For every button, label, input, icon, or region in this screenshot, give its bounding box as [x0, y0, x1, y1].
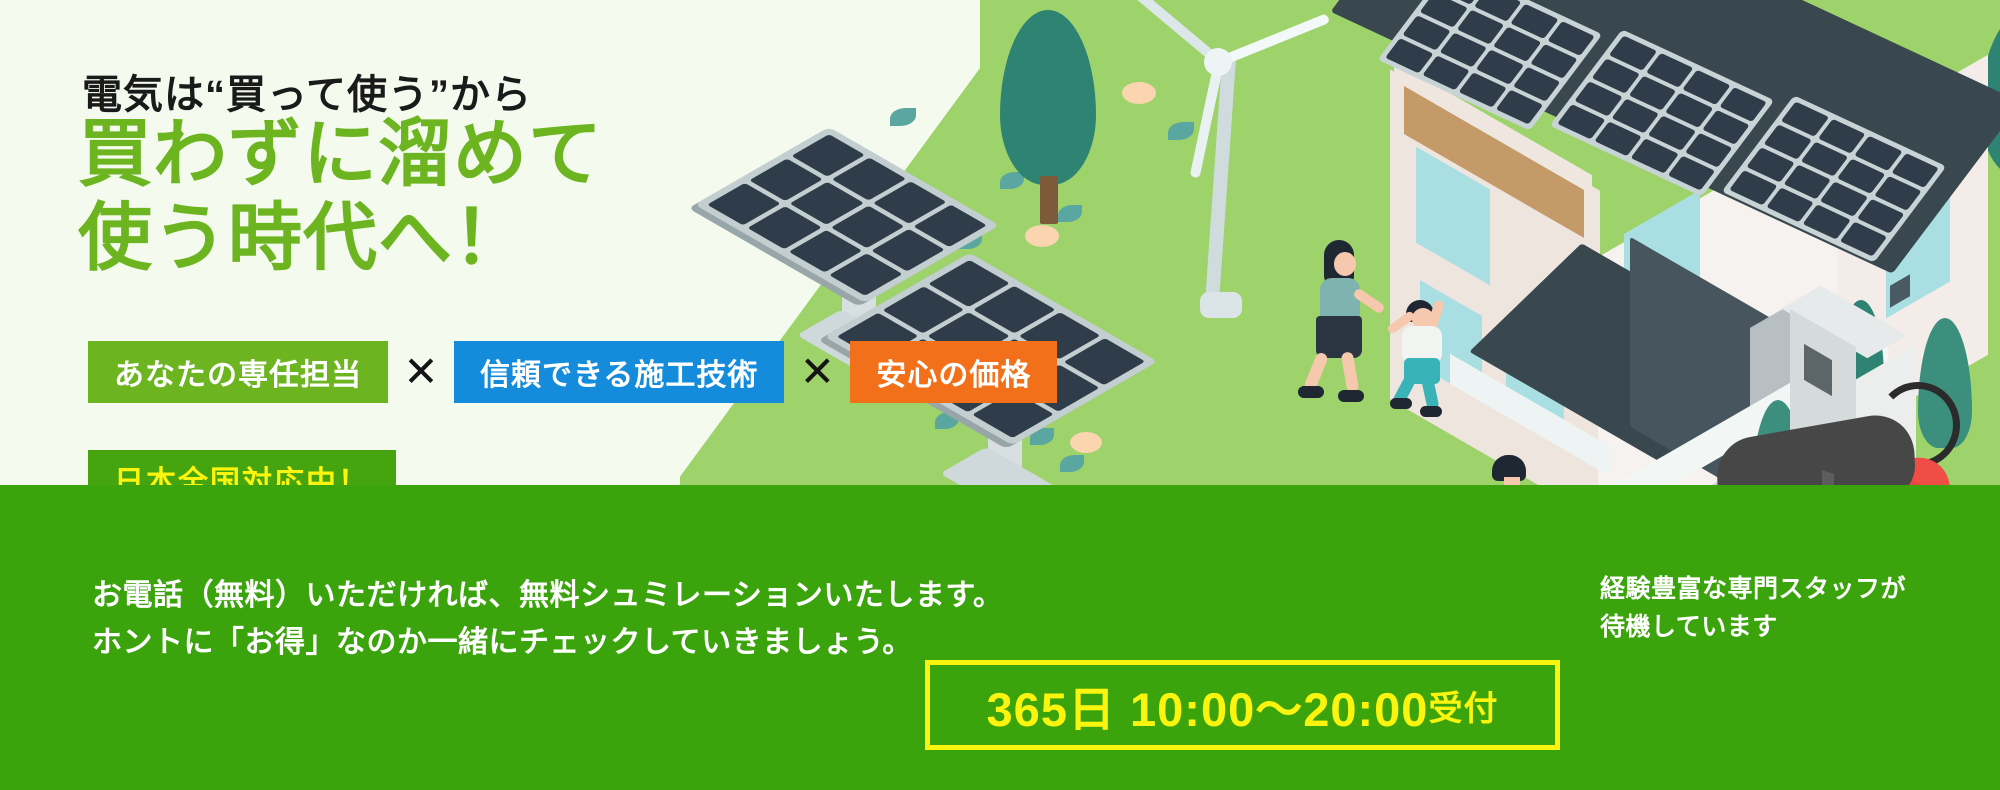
business-hours-main: 365日 10:00〜20:00 — [987, 671, 1429, 740]
business-hours-suffix: 受付 — [1428, 681, 1498, 730]
badge-reassuring-price: 安心の価格 — [850, 341, 1057, 403]
feature-badges: あなたの専任担当 ✕ 信頼できる施工技術 ✕ 安心の価格 — [88, 341, 1057, 403]
woman-shoe — [1298, 386, 1324, 398]
turbine-hub — [1204, 48, 1232, 76]
child-shoe — [1420, 406, 1442, 417]
badge-dedicated-staff: あなたの専任担当 — [88, 341, 388, 403]
headline-line-2: 使う時代へ！ — [78, 196, 603, 280]
hero-banner: 電気は“買って使う”から 買わずに溜めて 使う時代へ！ あなたの専任担当 ✕ 信… — [0, 0, 2000, 790]
turbine-base — [1200, 292, 1242, 318]
page-title: 買わずに溜めて 使う時代へ！ — [78, 112, 603, 279]
footer-staff-note: 経験豊富な専門スタッフが 待機しています — [1600, 571, 1906, 646]
child-figure — [1390, 300, 1480, 410]
footer-copy-line-1: お電話（無料）いただければ、無料シュミレーションいたします。 — [92, 573, 1003, 620]
footer-staff-line-1: 経験豊富な専門スタッフが — [1600, 571, 1906, 609]
turbine-blade — [1215, 13, 1330, 67]
footer-copy-line-2: ホントに「お得」なのか一緒にチェックしていきましょう。 — [92, 620, 1003, 667]
leaf-decoration — [890, 108, 916, 126]
woman-figure — [1300, 240, 1390, 370]
footer-copy: お電話（無料）いただければ、無料シュミレーションいたします。 ホントに「お得」な… — [92, 573, 1003, 666]
cross-icon: ✕ — [784, 351, 850, 393]
footer-staff-line-2: 待機しています — [1600, 609, 1906, 647]
cross-icon: ✕ — [388, 351, 454, 393]
woman-face — [1334, 252, 1356, 276]
badge-reliable-construction: 信頼できる施工技術 — [454, 341, 784, 403]
business-hours-box: 365日 10:00〜20:00受付 — [925, 660, 1560, 750]
woman-shoe — [1338, 390, 1364, 402]
woman-skirt — [1316, 316, 1362, 358]
headline-line-1: 買わずに溜めて — [78, 112, 603, 196]
child-shoe — [1390, 398, 1412, 409]
